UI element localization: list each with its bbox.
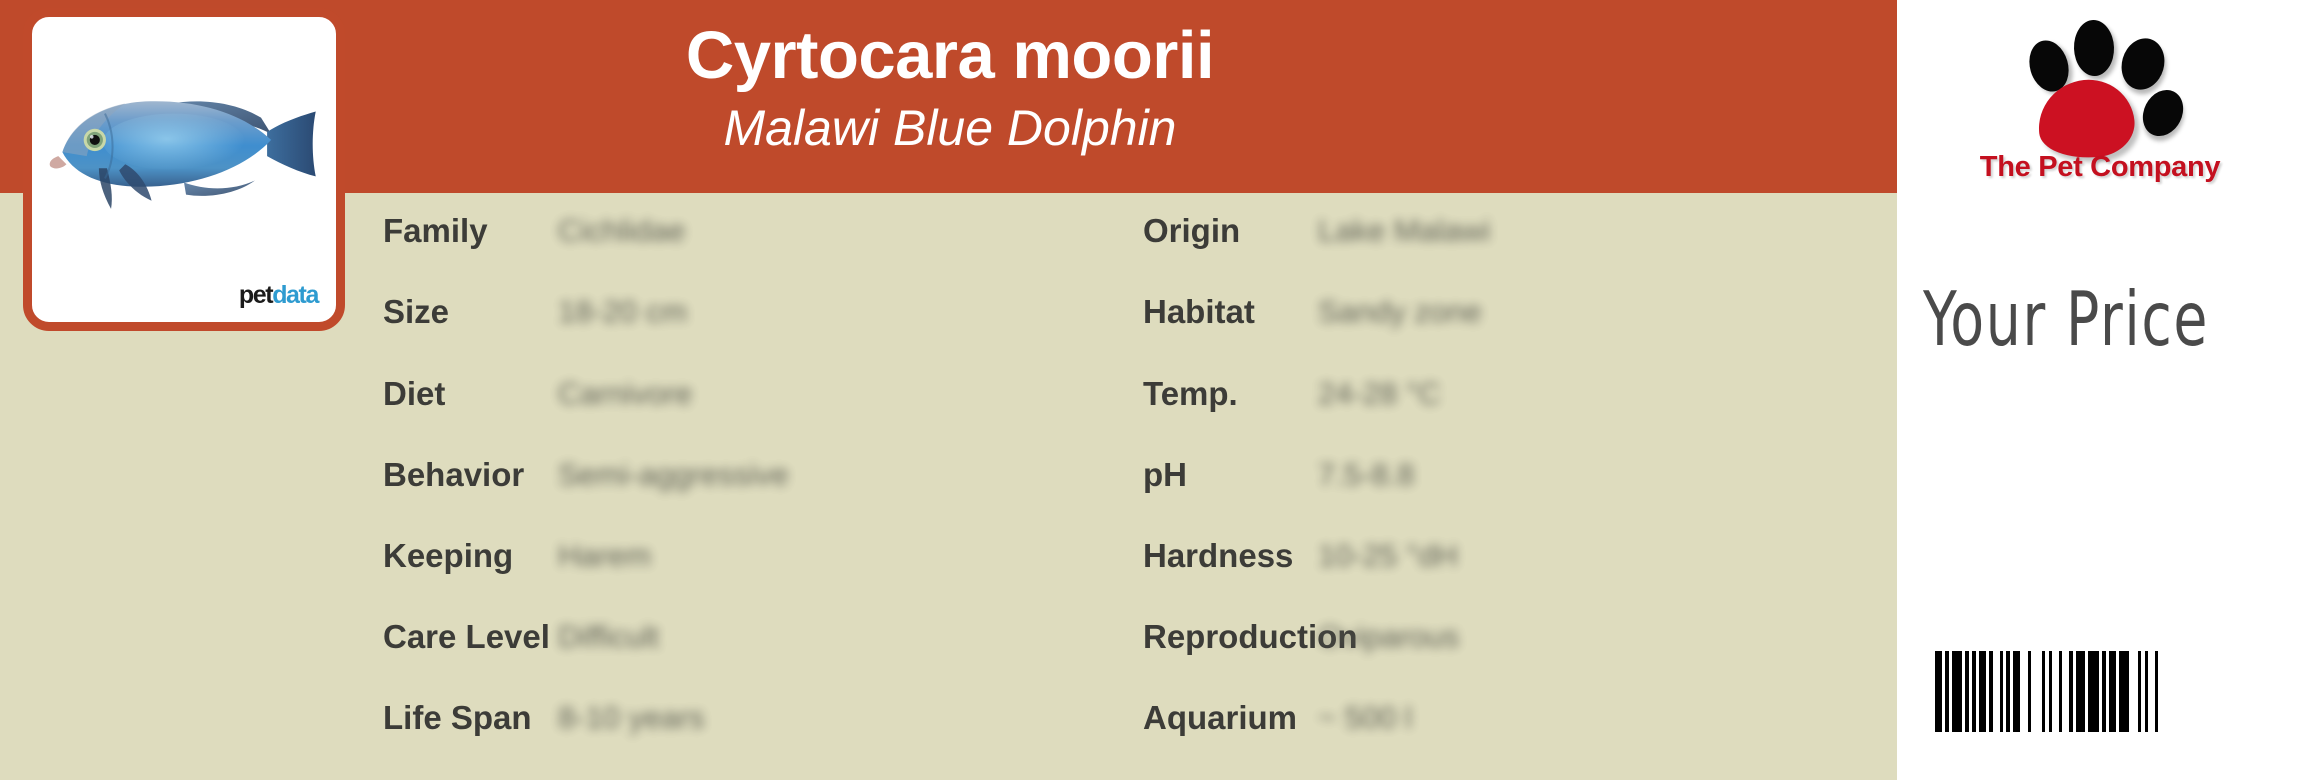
barcode-icon [1935, 651, 2165, 732]
spec-row: Reproduction Oviparous [1143, 617, 1897, 657]
spec-row: Hardness 10-25 °dH [1143, 536, 1897, 576]
barcode-bar [1935, 651, 1942, 732]
spec-key-hardness: Hardness [1143, 536, 1293, 576]
barcode-bar [2031, 651, 2042, 732]
spec-value-size: 18-20 cm [558, 292, 687, 332]
spec-key-habitat: Habitat [1143, 292, 1255, 332]
paw-toe [2116, 33, 2171, 95]
spec-value-keeping: Harem [558, 536, 651, 576]
spec-value-family: Cichlidae [558, 211, 686, 251]
spec-key-aquarium: Aquarium [1143, 698, 1297, 738]
barcode-bar [2013, 651, 2020, 732]
price-sidebar: The Pet Company Your Price [1897, 0, 2303, 780]
spec-column-right: Origin Lake Malawi Habitat Sandy zone Te… [1143, 193, 1897, 780]
species-name: Cyrtocara moorii [380, 22, 1520, 89]
paw-print-icon [2012, 10, 2202, 150]
spec-column-left: Family Cichlidae Size 18-20 cm Diet Carn… [383, 193, 1143, 780]
info-panel: Cyrtocara moorii Malawi Blue Dolphin [0, 0, 1897, 780]
barcode-bar [2129, 651, 2138, 732]
barcode-bar [1952, 651, 1962, 732]
spec-key-keeping: Keeping [383, 536, 513, 576]
barcode-bar [2119, 651, 2129, 732]
spec-row: Family Cichlidae [383, 211, 1143, 251]
barcode-bar [2020, 651, 2028, 732]
paw-toe [2073, 19, 2115, 76]
paw-toe [2135, 83, 2191, 143]
spec-row: Diet Carnivore [383, 374, 1143, 414]
spec-key-origin: Origin [1143, 211, 1240, 251]
barcode-bar [2062, 651, 2069, 732]
spec-value-reproduction: Oviparous [1318, 617, 1459, 657]
spec-value-life-span: 8-10 years [558, 698, 704, 738]
barcode-bar [2148, 651, 2155, 732]
barcode-bar [1979, 651, 1986, 732]
spec-value-behavior: Semi-aggressive [558, 455, 789, 495]
spec-value-temp: 24-28 °C [1318, 374, 1441, 414]
spec-row: Habitat Sandy zone [1143, 292, 1897, 332]
barcode-bar [2088, 651, 2099, 732]
barcode-bar [2076, 651, 2085, 732]
spec-key-diet: Diet [383, 374, 445, 414]
spec-key-care-level: Care Level [383, 617, 550, 657]
barcode-bar [2158, 651, 2165, 732]
spec-row: Keeping Harem [383, 536, 1143, 576]
spec-value-habitat: Sandy zone [1318, 292, 1482, 332]
spec-value-care-level: Difficult [558, 617, 659, 657]
price-heading: Your Price [1923, 282, 2209, 357]
spec-value-diet: Carnivore [558, 374, 692, 414]
common-name: Malawi Blue Dolphin [380, 103, 1520, 153]
spec-value-origin: Lake Malawi [1318, 211, 1490, 251]
spec-key-temp: Temp. [1143, 374, 1238, 414]
barcode-bar [1993, 651, 2000, 732]
company-logo: The Pet Company [1897, 6, 2303, 201]
spec-row: Care Level Difficult [383, 617, 1143, 657]
spec-value-hardness: 10-25 °dH [1318, 536, 1458, 576]
spec-row: Origin Lake Malawi [1143, 211, 1897, 251]
spec-key-ph: pH [1143, 455, 1187, 495]
spec-key-behavior: Behavior [383, 455, 524, 495]
spec-value-ph: 7.5-8.8 [1318, 455, 1415, 495]
barcode-bar [2109, 651, 2116, 732]
company-name: The Pet Company [1897, 151, 2303, 184]
spec-row: Size 18-20 cm [383, 292, 1143, 332]
barcode-bar [2052, 651, 2059, 732]
spec-grid: Family Cichlidae Size 18-20 cm Diet Carn… [0, 193, 1897, 780]
spec-row: Aquarium ~ 500 l [1143, 698, 1897, 738]
spec-key-family: Family [383, 211, 488, 251]
title-block: Cyrtocara moorii Malawi Blue Dolphin [380, 8, 1520, 153]
pet-label-sheet: Cyrtocara moorii Malawi Blue Dolphin [0, 0, 2303, 780]
spec-row: Life Span 8-10 years [383, 698, 1143, 738]
spec-value-aquarium: ~ 500 l [1318, 698, 1412, 738]
spec-row: Behavior Semi-aggressive [383, 455, 1143, 495]
spec-row: Temp. 24-28 °C [1143, 374, 1897, 414]
spec-key-life-span: Life Span [383, 698, 532, 738]
spec-row: pH 7.5-8.8 [1143, 455, 1897, 495]
spec-key-size: Size [383, 292, 449, 332]
